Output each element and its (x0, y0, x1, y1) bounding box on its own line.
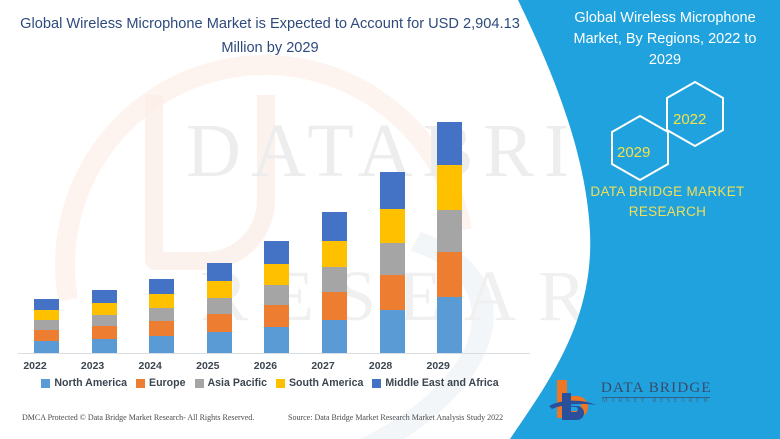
logo-name: DATA BRIDGE (601, 380, 712, 397)
bar-segment-europe[interactable] (34, 330, 59, 341)
bar-2028[interactable] (380, 172, 405, 353)
bar-segment-north-america[interactable] (322, 320, 347, 353)
page-title: Global Wireless Microphone Market is Exp… (8, 12, 532, 60)
bar-segment-asia-pacific[interactable] (92, 315, 117, 326)
bar-segment-middle-east-and-africa[interactable] (322, 212, 347, 241)
bar-segment-north-america[interactable] (264, 327, 289, 353)
legend-item-europe[interactable]: Europe (136, 377, 186, 389)
x-tick-2022: 2022 (15, 360, 55, 372)
bar-segment-asia-pacific[interactable] (34, 320, 59, 330)
hexagon-label-2029: 2029 (617, 144, 650, 161)
legend-item-asia-pacific[interactable]: Asia Pacific (195, 377, 267, 389)
chart-x-axis: 20222023202420252026202720282029 (0, 360, 540, 378)
bar-segment-asia-pacific[interactable] (207, 298, 232, 314)
legend-item-south-america[interactable]: South America (276, 377, 363, 389)
bar-segment-south-america[interactable] (264, 264, 289, 285)
legend-label: North America (54, 377, 127, 389)
bar-segment-middle-east-and-africa[interactable] (437, 122, 462, 165)
bar-segment-asia-pacific[interactable] (322, 267, 347, 292)
bar-segment-asia-pacific[interactable] (437, 210, 462, 252)
bar-chart (0, 90, 540, 360)
bar-segment-europe[interactable] (264, 305, 289, 327)
legend-swatch-icon (276, 379, 285, 388)
bar-segment-south-america[interactable] (437, 165, 462, 210)
bar-segment-europe[interactable] (92, 326, 117, 339)
bar-2023[interactable] (92, 290, 117, 353)
bar-segment-europe[interactable] (149, 321, 174, 336)
bar-2025[interactable] (207, 263, 232, 353)
bar-2022[interactable] (34, 299, 59, 353)
bar-segment-europe[interactable] (380, 275, 405, 310)
footer-source: Source: Data Bridge Market Research Mark… (288, 413, 503, 422)
bar-segment-south-america[interactable] (322, 241, 347, 267)
bar-segment-middle-east-and-africa[interactable] (380, 172, 405, 209)
bar-segment-north-america[interactable] (92, 339, 117, 353)
chart-baseline (18, 353, 530, 354)
brand-name-line2: RESEARCH (560, 202, 775, 222)
footer-copyright: DMCA Protected © Data Bridge Market Rese… (22, 413, 254, 422)
bar-2029[interactable] (437, 122, 462, 353)
bar-segment-north-america[interactable] (149, 336, 174, 353)
bar-segment-asia-pacific[interactable] (149, 308, 174, 321)
bar-segment-middle-east-and-africa[interactable] (34, 299, 59, 310)
legend-swatch-icon (195, 379, 204, 388)
bar-segment-middle-east-and-africa[interactable] (207, 263, 232, 281)
x-tick-2029: 2029 (418, 360, 458, 372)
chart-plot-area (18, 90, 518, 353)
bar-segment-asia-pacific[interactable] (380, 243, 405, 275)
legend-item-middle-east-and-africa[interactable]: Middle East and Africa (372, 377, 498, 389)
hexagon-group: 2022 2029 (596, 78, 746, 193)
x-tick-2024: 2024 (130, 360, 170, 372)
bar-segment-north-america[interactable] (437, 297, 462, 353)
legend-label: Middle East and Africa (385, 377, 498, 389)
bar-2026[interactable] (264, 241, 289, 353)
bar-segment-asia-pacific[interactable] (264, 285, 289, 305)
x-tick-2028: 2028 (361, 360, 401, 372)
hexagon-label-2022: 2022 (673, 111, 706, 128)
chart-legend: North AmericaEuropeAsia PacificSouth Ame… (0, 377, 540, 389)
bar-segment-europe[interactable] (207, 314, 232, 332)
bar-segment-south-america[interactable] (207, 281, 232, 298)
bar-segment-europe[interactable] (437, 252, 462, 297)
infographic-root: DATABRIDGE RESEARCH Global Wireless Micr… (0, 0, 780, 439)
legend-label: South America (289, 377, 363, 389)
bar-2024[interactable] (149, 279, 174, 353)
bar-2027[interactable] (322, 212, 347, 353)
x-tick-2026: 2026 (245, 360, 285, 372)
bar-segment-north-america[interactable] (380, 310, 405, 353)
bar-segment-europe[interactable] (322, 292, 347, 320)
legend-swatch-icon (41, 379, 50, 388)
bar-segment-middle-east-and-africa[interactable] (92, 290, 117, 303)
footer: DMCA Protected © Data Bridge Market Rese… (0, 413, 540, 433)
brand-name: DATA BRIDGE MARKET RESEARCH (560, 182, 775, 222)
legend-label: Europe (149, 377, 186, 389)
bar-segment-south-america[interactable] (92, 303, 117, 315)
panel-title: Global Wireless Microphone Market, By Re… (556, 8, 774, 71)
legend-swatch-icon (136, 379, 145, 388)
bar-segment-south-america[interactable] (149, 294, 174, 308)
bar-segment-south-america[interactable] (34, 310, 59, 320)
logo-tagline: MARKET RESEARCH (602, 398, 711, 404)
bar-segment-middle-east-and-africa[interactable] (264, 241, 289, 264)
brand-name-line1: DATA BRIDGE MARKET (560, 182, 775, 202)
bar-segment-south-america[interactable] (380, 209, 405, 243)
x-tick-2027: 2027 (303, 360, 343, 372)
x-tick-2023: 2023 (73, 360, 113, 372)
bar-segment-north-america[interactable] (34, 341, 59, 353)
x-tick-2025: 2025 (188, 360, 228, 372)
bar-segment-north-america[interactable] (207, 332, 232, 353)
legend-item-north-america[interactable]: North America (41, 377, 127, 389)
legend-label: Asia Pacific (208, 377, 267, 389)
bar-segment-middle-east-and-africa[interactable] (149, 279, 174, 294)
data-bridge-logo: DATA BRIDGE MARKET RESEARCH (549, 378, 599, 427)
legend-swatch-icon (372, 379, 381, 388)
